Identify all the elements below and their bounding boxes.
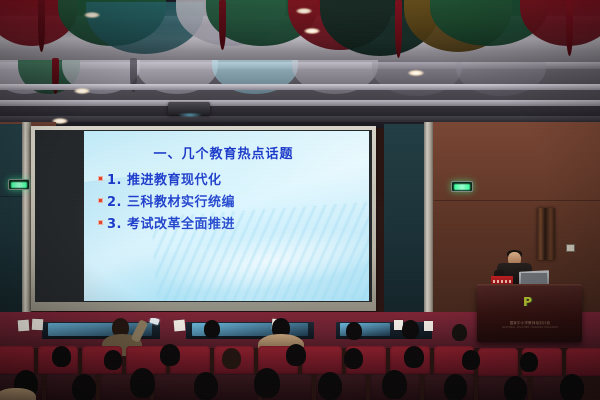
exit-sign-right	[451, 181, 473, 192]
projector-beam	[178, 113, 202, 117]
audience-head	[382, 370, 407, 399]
presentation-slide: 一、几个教育热点话题 1. 推进教育现代化 2. 三科教材实行统编 3. 考试改…	[84, 131, 369, 301]
audience-head	[130, 368, 155, 398]
auditorium-seat	[566, 348, 600, 376]
slide-bullet-text: 2. 三科教材实行统编	[107, 191, 235, 210]
drape-tassel	[38, 0, 45, 52]
slide-bullet-list: 1. 推进教育现代化 2. 三科教材实行统编 3. 考试改革全面推进	[98, 169, 235, 235]
audience-head	[194, 372, 218, 400]
audience-head	[346, 322, 362, 340]
audience-head	[72, 374, 96, 400]
audience-head	[462, 350, 480, 370]
podium-logo: P	[523, 296, 538, 309]
drape-tassel	[395, 0, 402, 58]
exit-sign-left	[8, 179, 30, 190]
ceiling-downlight	[74, 88, 90, 94]
auditorium-seat	[478, 348, 518, 376]
audience-head	[560, 374, 584, 400]
slide-bullet-item: 1. 推进教育现代化	[98, 169, 235, 188]
audience-head	[52, 346, 71, 367]
red-square-bullet-icon	[98, 220, 103, 225]
audience-head	[444, 374, 467, 400]
audience-head	[452, 324, 467, 341]
audience-area	[0, 318, 600, 400]
wall-panel-right	[384, 124, 426, 320]
audience-head	[344, 348, 363, 369]
ceiling-downlight	[408, 70, 424, 76]
audience-head	[104, 350, 122, 370]
wall-pillar-right	[424, 122, 433, 322]
wall-pillar-left	[22, 122, 31, 322]
drape-tassel	[566, 0, 573, 56]
audience-head	[254, 368, 280, 398]
audience-head	[402, 320, 419, 339]
audience-head	[160, 344, 180, 366]
audience-fur-collar	[0, 388, 36, 400]
drape-tassel	[219, 0, 226, 50]
name-card	[174, 320, 186, 332]
audience-head	[520, 352, 538, 372]
name-card	[18, 320, 30, 332]
lecture-hall-photo: 一、几个教育热点话题 1. 推进教育现代化 2. 三科教材实行统编 3. 考试改…	[0, 0, 600, 400]
red-square-bullet-icon	[98, 198, 103, 203]
slide-title: 一、几个教育热点话题	[84, 143, 363, 162]
ceiling-downlight	[84, 12, 100, 18]
name-card	[424, 321, 433, 331]
name-card	[32, 319, 44, 331]
audience-head	[504, 376, 527, 400]
ceiling-rail	[0, 84, 600, 90]
audience-head	[404, 346, 424, 368]
audience-head	[286, 344, 306, 366]
audience-head	[204, 320, 220, 338]
wall-switch-plate[interactable]	[566, 244, 575, 252]
slide-bullet-text: 3. 考试改革全面推进	[107, 213, 235, 232]
audience-head	[318, 372, 342, 400]
red-square-bullet-icon	[98, 176, 103, 181]
auditorium-seat	[302, 346, 342, 374]
slide-bullet-item: 3. 考试改革全面推进	[98, 213, 235, 232]
ceiling-downlight	[296, 8, 312, 14]
side-door[interactable]	[537, 208, 555, 260]
wall-seam	[434, 200, 600, 201]
audience-head	[222, 348, 241, 369]
ceiling-downlight	[304, 28, 320, 34]
wall-seam	[0, 196, 22, 197]
slide-bullet-text: 1. 推进教育现代化	[107, 169, 222, 188]
slide-bullet-item: 2. 三科教材实行统编	[98, 191, 235, 210]
